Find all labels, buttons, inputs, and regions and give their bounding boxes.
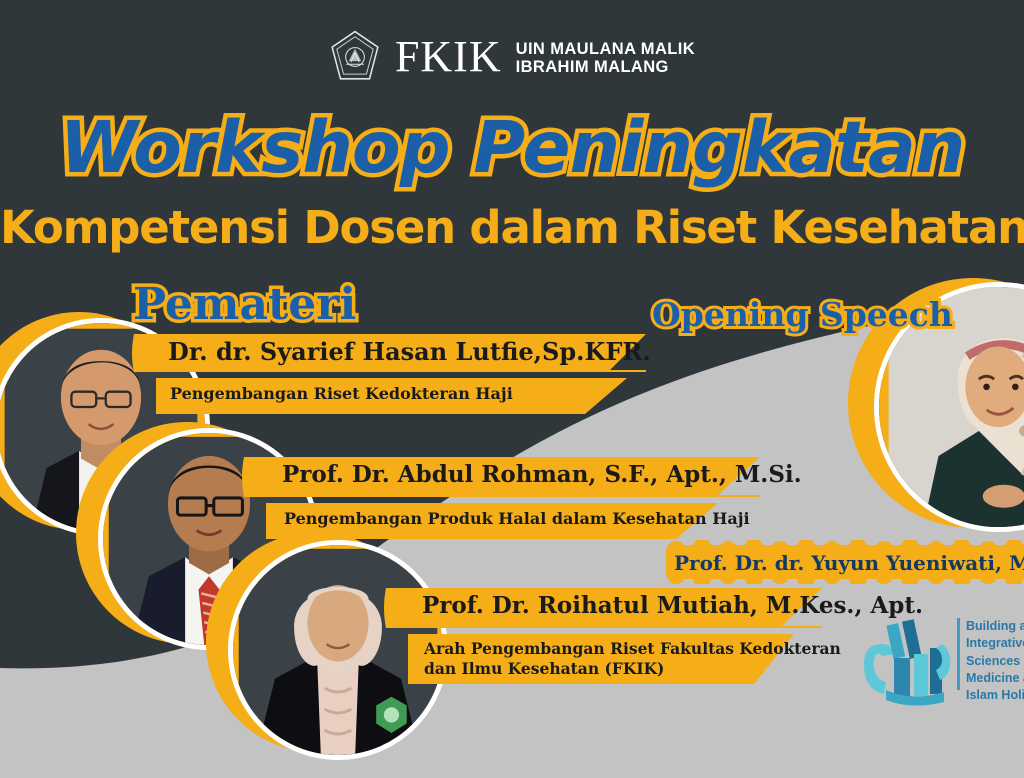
institution-line-1: UIN MAULANA MALIK [516, 40, 695, 58]
speaker-2-name: Prof. Dr. Abdul Rohman, S.F., Apt., M.Si… [282, 461, 802, 488]
brand-tagline-line-4: Medicine a [966, 670, 1024, 687]
poster-canvas: FKIK UIN MAULANA MALIK IBRAHIM MALANG Wo… [0, 0, 1024, 778]
speaker-3-topic-line-2: dan Ilmu Kesehatan (FKIK) [424, 659, 664, 678]
page-title: Workshop Peningkatan [0, 112, 1024, 183]
brand-tagline: Building an Integrative Sciences o Medic… [966, 618, 1024, 704]
speaker-banner-2: Prof. Dr. Abdul Rohman, S.F., Apt., M.Si… [240, 457, 760, 547]
speaker-3-topic-line-1: Arah Pengembangan Riset Fakultas Kedokte… [424, 639, 841, 658]
speaker-1-topic: Pengembangan Riset Kedokteran Haji [170, 384, 513, 404]
institution-name: UIN MAULANA MALIK IBRAHIM MALANG [516, 38, 695, 77]
fkik-wordmark: FKIK [395, 35, 502, 79]
speakers-section-label: Pemateri [133, 283, 356, 327]
brand-divider [957, 618, 960, 690]
opening-speaker-banner: Prof. Dr. dr. Yuyun Yueniwati, M.Kes, Sp… [658, 540, 1024, 584]
page-subtitle: Kompetensi Dosen dalam Riset Kesehatan H… [0, 205, 1024, 250]
speaker-banner-3: Prof. Dr. Roihatul Mutiah, M.Kes., Apt. … [382, 588, 822, 688]
uin-seal-icon [329, 30, 381, 84]
calligraphy-logo-icon [856, 612, 960, 708]
speaker-2-topic: Pengembangan Produk Halal dalam Kesehata… [284, 509, 750, 529]
brand-tagline-line-2: Integrative [966, 635, 1024, 652]
speaker-3-name: Prof. Dr. Roihatul Mutiah, M.Kes., Apt. [422, 592, 923, 619]
brand-tagline-line-1: Building an [966, 618, 1024, 635]
brand-tagline-line-3: Sciences o [966, 653, 1024, 670]
opening-speaker-name: Prof. Dr. dr. Yuyun Yueniwati, M.Kes, Sp… [674, 551, 1024, 575]
speaker-1-name: Dr. dr. Syarief Hasan Lutfie,Sp.KFR. [168, 337, 651, 366]
opening-speech-label: Opening Speech [652, 298, 953, 331]
institution-line-2: IBRAHIM MALANG [516, 58, 695, 76]
brand-tagline-line-5: Islam Holis [966, 687, 1024, 704]
header: FKIK UIN MAULANA MALIK IBRAHIM MALANG [0, 30, 1024, 84]
speaker-banner-1: Dr. dr. Syarief Hasan Lutfie,Sp.KFR. Pen… [130, 334, 646, 424]
